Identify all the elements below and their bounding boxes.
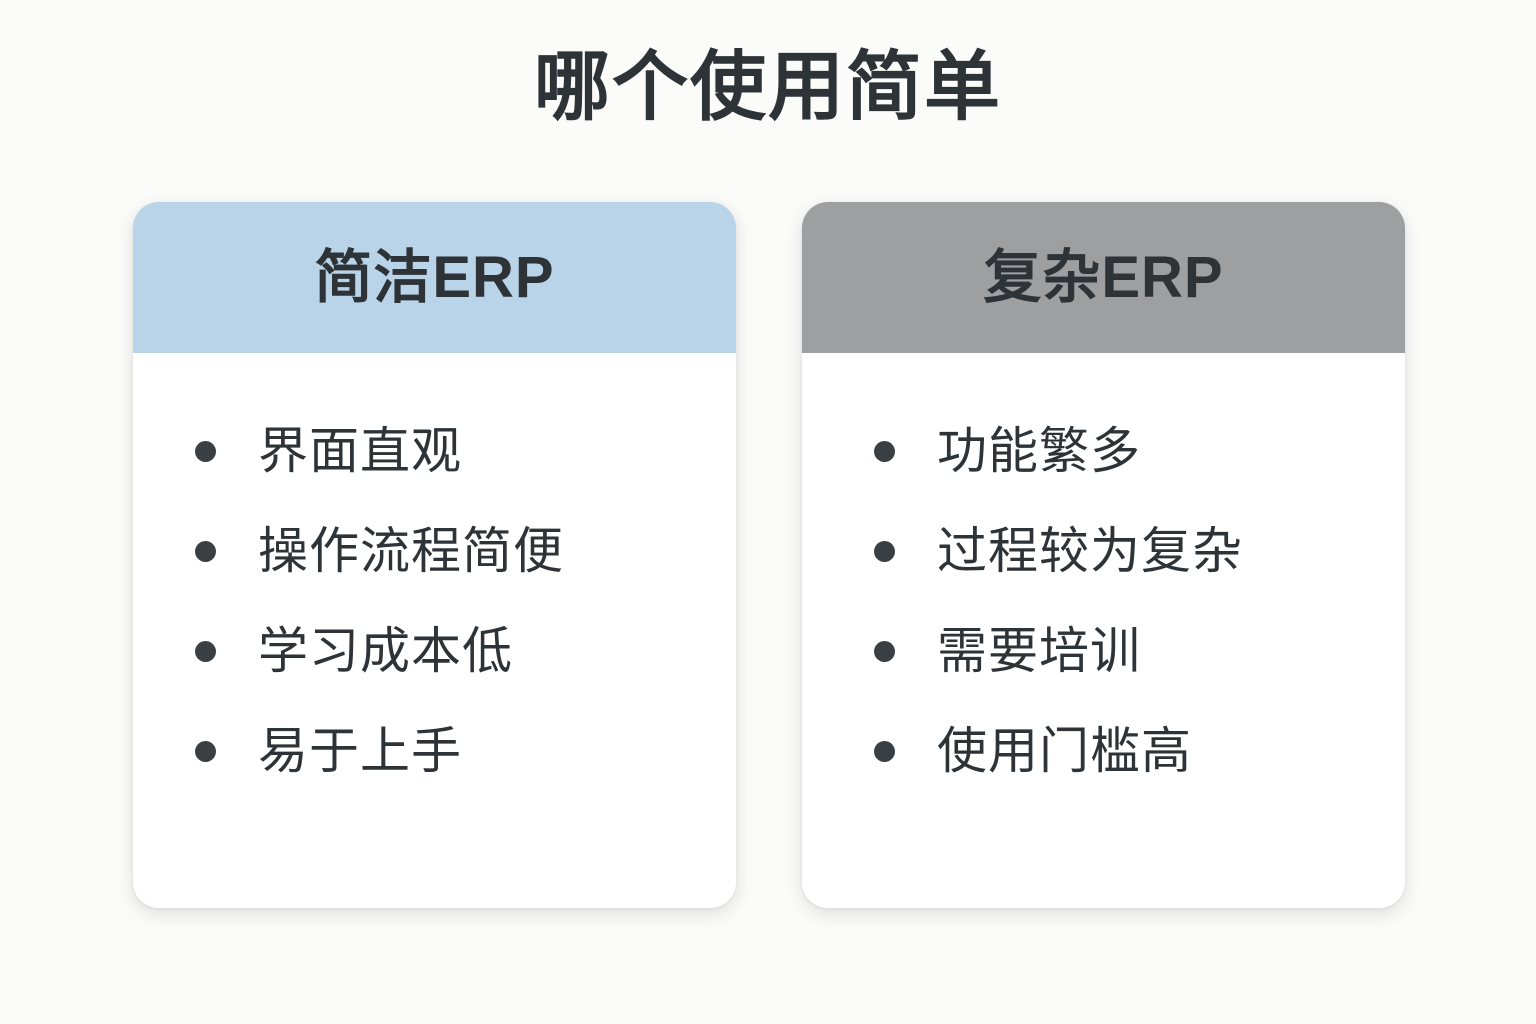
bullet-dot-icon — [195, 541, 216, 562]
list-item-label: 学习成本低 — [258, 626, 513, 676]
list-item-label: 界面直观 — [258, 426, 462, 476]
card-body-complex-erp: 功能繁多 过程较为复杂 需要培训 使用门槛高 — [802, 353, 1405, 908]
list-item-label: 功能繁多 — [937, 426, 1141, 476]
list-item: 功能繁多 — [802, 401, 1405, 501]
feature-list-complex-erp: 功能繁多 过程较为复杂 需要培训 使用门槛高 — [802, 401, 1405, 801]
list-item: 操作流程简便 — [133, 501, 736, 601]
card-header-simple-erp: 简洁ERP — [133, 202, 736, 353]
list-item: 使用门槛高 — [802, 701, 1405, 801]
card-header-complex-erp: 复杂ERP — [802, 202, 1405, 353]
comparison-page: 哪个使用简单 简洁ERP 界面直观 操作流程简便 — [0, 0, 1536, 1024]
card-simple-erp: 简洁ERP 界面直观 操作流程简便 学习成本低 — [133, 202, 736, 908]
list-item: 学习成本低 — [133, 601, 736, 701]
list-item: 易于上手 — [133, 701, 736, 801]
bullet-dot-icon — [874, 741, 895, 762]
bullet-dot-icon — [874, 541, 895, 562]
list-item: 过程较为复杂 — [802, 501, 1405, 601]
list-item-label: 过程较为复杂 — [937, 526, 1243, 576]
list-item-label: 易于上手 — [258, 726, 462, 776]
comparison-cards-container: 简洁ERP 界面直观 操作流程简便 学习成本低 — [133, 202, 1405, 908]
card-body-simple-erp: 界面直观 操作流程简便 学习成本低 易于上手 — [133, 353, 736, 908]
bullet-dot-icon — [195, 641, 216, 662]
list-item-label: 操作流程简便 — [258, 526, 564, 576]
card-title-complex-erp: 复杂ERP — [983, 249, 1223, 307]
feature-list-simple-erp: 界面直观 操作流程简便 学习成本低 易于上手 — [133, 401, 736, 801]
list-item: 需要培训 — [802, 601, 1405, 701]
bullet-dot-icon — [874, 441, 895, 462]
bullet-dot-icon — [195, 741, 216, 762]
list-item: 界面直观 — [133, 401, 736, 501]
card-complex-erp: 复杂ERP 功能繁多 过程较为复杂 需要培训 — [802, 202, 1405, 908]
page-title: 哪个使用简单 — [0, 42, 1536, 133]
bullet-dot-icon — [874, 641, 895, 662]
list-item-label: 需要培训 — [937, 626, 1141, 676]
bullet-dot-icon — [195, 441, 216, 462]
card-title-simple-erp: 简洁ERP — [314, 249, 554, 307]
list-item-label: 使用门槛高 — [937, 726, 1192, 776]
